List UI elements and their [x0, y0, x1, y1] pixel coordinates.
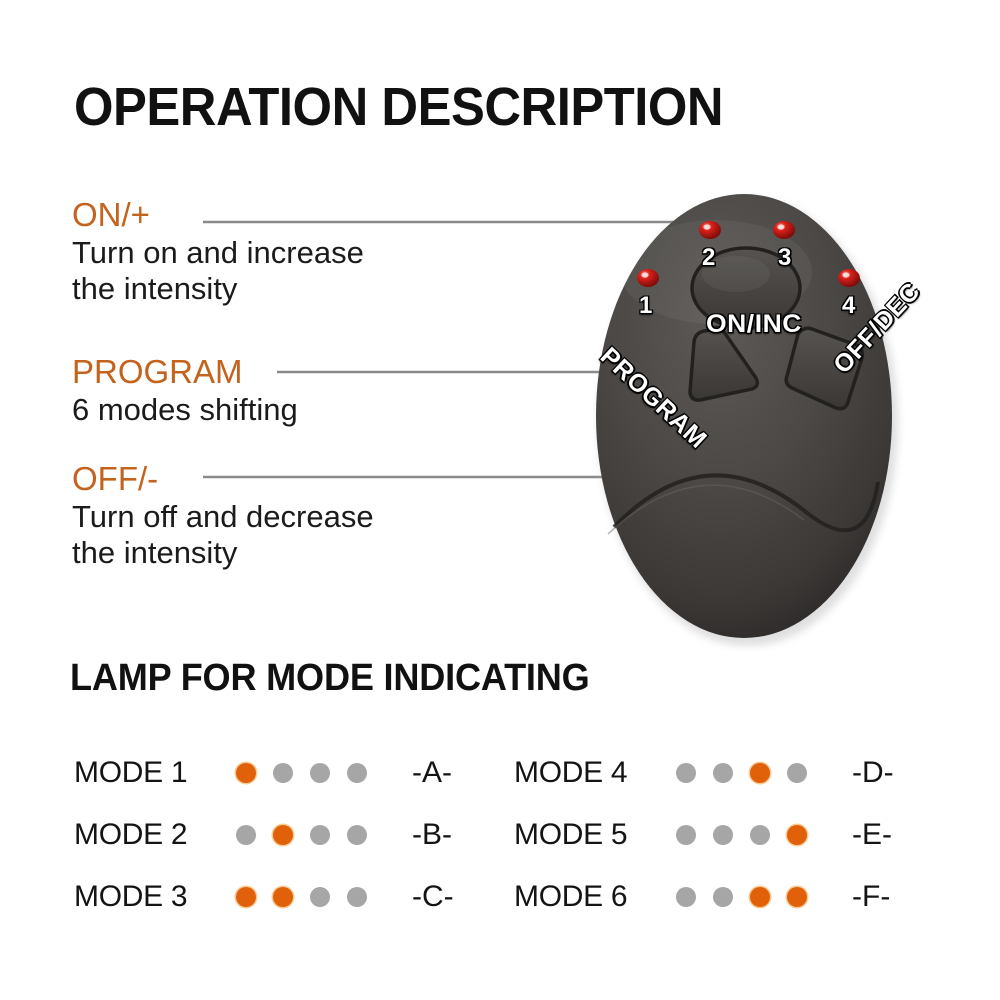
- mode-lamp-3-off: [750, 825, 770, 845]
- mode-lamp-4-off: [787, 763, 807, 783]
- mode-row: MODE 6-F-: [514, 866, 934, 928]
- mode-row-label: MODE 1: [74, 756, 236, 790]
- section-title: LAMP FOR MODE INDICATING: [70, 657, 590, 700]
- callout-off-minus-title: OFF/-: [72, 462, 374, 497]
- led-1: [637, 269, 659, 287]
- mode-table-left-column: MODE 1-A-MODE 2-B-MODE 3-C-: [74, 742, 494, 928]
- mode-lamp-2-on: [273, 825, 293, 845]
- led-4: [838, 269, 860, 287]
- mode-row-code: -D-: [852, 756, 894, 790]
- led-3: [773, 221, 795, 239]
- page-title: OPERATION DESCRIPTION: [74, 76, 723, 138]
- mode-lamp-1-off: [676, 825, 696, 845]
- mode-lamp-3-off: [310, 825, 330, 845]
- mode-row-code: -B-: [412, 818, 452, 852]
- led-1-glint: [642, 272, 649, 277]
- led-number-2: 2: [702, 244, 716, 272]
- led-number-4: 4: [842, 292, 856, 320]
- mode-row: MODE 5-E-: [514, 804, 934, 866]
- mode-lamp-3-on: [750, 763, 770, 783]
- mode-lamp-group: [676, 887, 826, 907]
- mode-row: MODE 3-C-: [74, 866, 494, 928]
- mode-lamp-4-on: [787, 887, 807, 907]
- mode-row-label: MODE 4: [514, 756, 676, 790]
- mode-lamp-3-off: [310, 887, 330, 907]
- mode-lamp-1-on: [236, 763, 256, 783]
- led-4-glint: [843, 272, 850, 277]
- led-number-1: 1: [639, 292, 653, 320]
- callout-off-minus-description: Turn off and decrease the intensity: [72, 499, 374, 572]
- remote-control-device: 1 2 3 4 ON/INC PROGRAM OFF/DEC: [566, 182, 926, 652]
- mode-lamp-group: [676, 763, 826, 783]
- mode-row-code: -F-: [852, 880, 890, 914]
- callout-on-plus: ON/+ Turn on and increase the intensity: [72, 198, 364, 308]
- callout-on-plus-title: ON/+: [72, 198, 364, 233]
- mode-lamp-group: [236, 763, 386, 783]
- mode-row: MODE 4-D-: [514, 742, 934, 804]
- on-inc-button-label: ON/INC: [706, 310, 802, 339]
- mode-lamp-2-on: [273, 887, 293, 907]
- led-2: [699, 221, 721, 239]
- mode-row-code: -A-: [412, 756, 452, 790]
- callout-program: PROGRAM 6 modes shifting: [72, 355, 298, 428]
- mode-lamp-2-off: [713, 825, 733, 845]
- mode-lamp-4-off: [347, 825, 367, 845]
- device-illustration: [566, 182, 926, 652]
- mode-lamp-3-on: [750, 887, 770, 907]
- mode-table-right-column: MODE 4-D-MODE 5-E-MODE 6-F-: [514, 742, 934, 928]
- mode-lamp-group: [236, 887, 386, 907]
- mode-lamp-group: [676, 825, 826, 845]
- callout-off-minus: OFF/- Turn off and decrease the intensit…: [72, 462, 374, 572]
- callout-on-plus-description: Turn on and increase the intensity: [72, 235, 364, 308]
- mode-lamp-1-on: [236, 887, 256, 907]
- led-3-glint: [778, 224, 785, 229]
- mode-row-code: -C-: [412, 880, 454, 914]
- mode-row-label: MODE 6: [514, 880, 676, 914]
- mode-lamp-2-off: [713, 887, 733, 907]
- led-number-3: 3: [778, 244, 792, 272]
- mode-lamp-4-off: [347, 887, 367, 907]
- mode-lamp-4-on: [787, 825, 807, 845]
- mode-row: MODE 2-B-: [74, 804, 494, 866]
- mode-lamp-1-off: [676, 887, 696, 907]
- mode-lamp-2-off: [273, 763, 293, 783]
- mode-lamp-4-off: [347, 763, 367, 783]
- mode-lamp-2-off: [713, 763, 733, 783]
- mode-lamp-3-off: [310, 763, 330, 783]
- mode-lamp-1-off: [676, 763, 696, 783]
- callout-program-title: PROGRAM: [72, 355, 298, 390]
- led-2-glint: [704, 224, 711, 229]
- mode-row: MODE 1-A-: [74, 742, 494, 804]
- mode-row-code: -E-: [852, 818, 892, 852]
- callout-program-description: 6 modes shifting: [72, 392, 298, 429]
- mode-row-label: MODE 3: [74, 880, 236, 914]
- mode-lamp-group: [236, 825, 386, 845]
- mode-row-label: MODE 2: [74, 818, 236, 852]
- mode-row-label: MODE 5: [514, 818, 676, 852]
- mode-lamp-1-off: [236, 825, 256, 845]
